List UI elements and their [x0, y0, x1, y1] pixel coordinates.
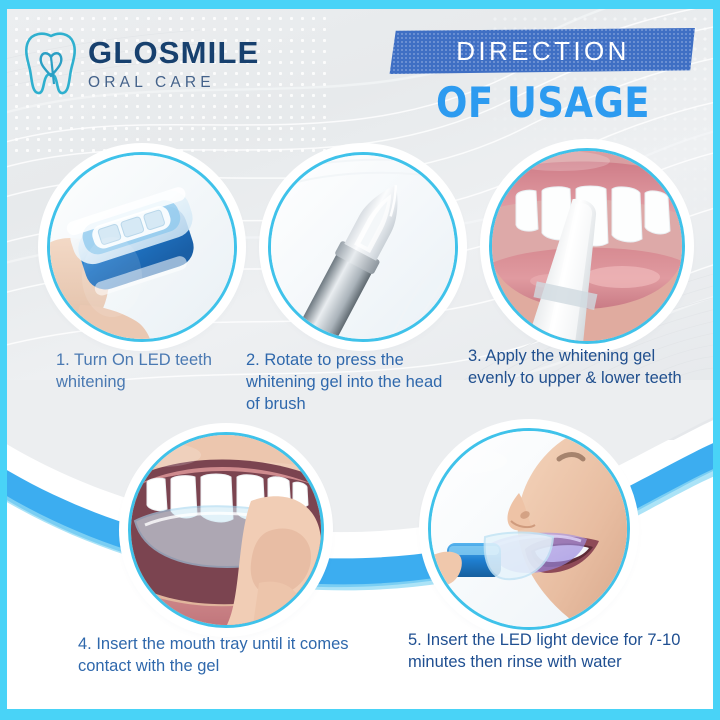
tooth-heart-icon [22, 30, 80, 98]
direction-of-usage-poster: GLOSMILE ORAL CARE DIRECTION OF USAGE [0, 0, 720, 720]
step-3-caption: 3. Apply the whitening gel evenly to upp… [468, 346, 700, 390]
step-5-caption: 5. Insert the LED light device for 7-10 … [408, 630, 688, 674]
page-title: OF USAGE [407, 78, 680, 127]
inserting-mouth-tray-photo [131, 435, 321, 625]
led-device-in-mouth-photo [431, 431, 627, 627]
step-5-photo [428, 428, 630, 630]
gel-pen-tip-photo [271, 155, 455, 339]
step-2-photo [268, 152, 458, 342]
frame-left-bar [0, 0, 7, 720]
applying-gel-to-teeth-photo [492, 151, 682, 341]
step-4-photo [128, 432, 324, 628]
step-4-caption: 4. Insert the mouth tray until it comes … [78, 634, 368, 678]
frame-top-bar [0, 0, 720, 9]
step-1-caption: 1. Turn On LED teeth whitening [56, 350, 246, 394]
brand-name: GLOSMILE [88, 37, 260, 68]
brand-logo: GLOSMILE ORAL CARE [22, 30, 260, 98]
step-1-photo [47, 152, 237, 342]
direction-banner: DIRECTION [388, 28, 698, 74]
led-whitening-device-photo [50, 155, 234, 339]
poster-title-block: DIRECTION OF USAGE [388, 28, 698, 127]
frame-right-bar [713, 0, 720, 720]
frame-bottom-bar [0, 709, 720, 720]
step-2-caption: 2. Rotate to press the whitening gel int… [246, 350, 456, 415]
banner-label: DIRECTION [456, 36, 630, 67]
brand-tagline: ORAL CARE [88, 75, 260, 91]
step-3-photo [489, 148, 685, 344]
